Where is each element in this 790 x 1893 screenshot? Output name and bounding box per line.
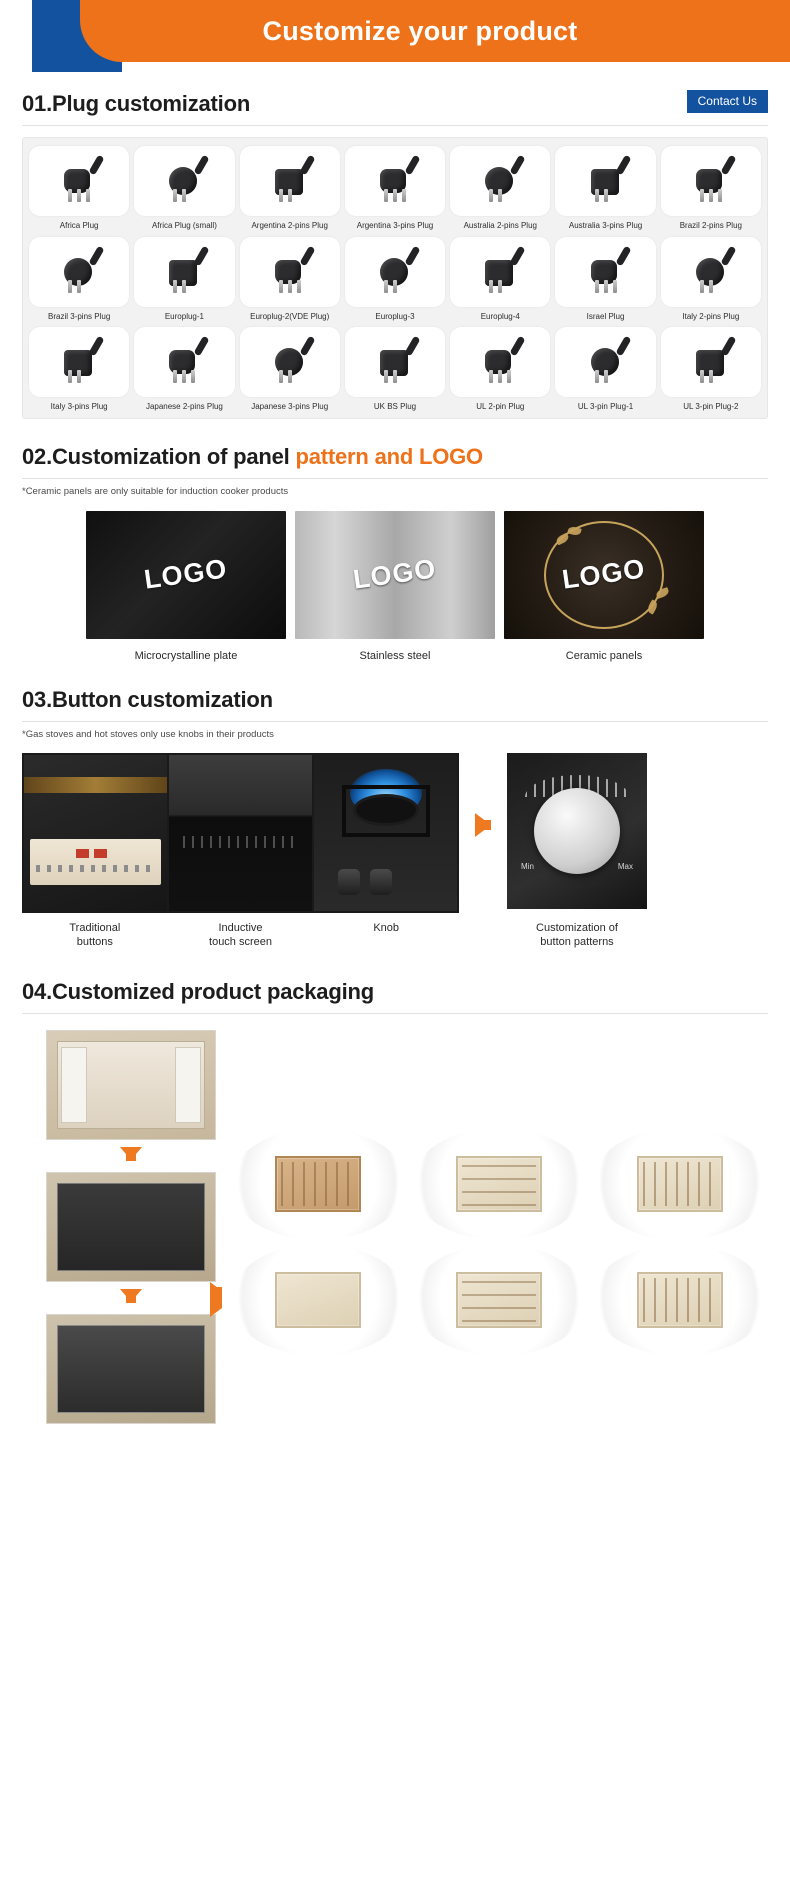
control-line-decor (36, 865, 155, 872)
panel-title-plain: 02.Customization of panel (22, 444, 296, 469)
plug-cord (615, 336, 631, 357)
button-section-note: *Gas stoves and hot stoves only use knob… (22, 729, 768, 740)
plug-label: Europlug-3 (345, 312, 445, 322)
plug-cord (299, 336, 315, 357)
plug-pin (507, 370, 511, 383)
plug-pin (86, 189, 90, 202)
plug-icon (263, 336, 317, 388)
plug-item[interactable]: Europlug-1 (134, 237, 234, 322)
panel-section-title: 02.Customization of panel pattern and LO… (22, 445, 483, 469)
plug-icon (368, 155, 422, 207)
plug-pin (700, 280, 704, 293)
logo-text: LOGO (142, 554, 229, 596)
plug-pin (279, 189, 283, 202)
plug-icon (368, 246, 422, 298)
plug-label: Brazil 3-pins Plug (29, 312, 129, 322)
plug-pin (384, 280, 388, 293)
caption-traditional-buttons: Traditional buttons (22, 922, 168, 950)
plug-label: Italy 2-pins Plug (661, 312, 761, 322)
arrow-stem (126, 1291, 136, 1303)
plug-icon (157, 155, 211, 207)
panel-sample-microcrystalline[interactable]: LOGO Microcrystalline plate (86, 511, 286, 662)
plug-cord (615, 155, 631, 176)
arrow-triangle (120, 1289, 142, 1302)
packaging-section-title: 04.Customized product packaging (22, 980, 374, 1004)
plug-pin (498, 370, 502, 383)
plug-image (450, 146, 550, 216)
plug-icon (263, 246, 317, 298)
plug-item[interactable]: Japanese 2-pins Plug (134, 327, 234, 412)
plug-label: Argentina 2-pins Plug (240, 221, 340, 231)
plug-pin (77, 280, 81, 293)
plug-cord (299, 245, 315, 266)
plug-pin (182, 280, 186, 293)
plug-label: Africa Plug (29, 221, 129, 231)
plug-image (134, 146, 234, 216)
knob-min-label: Min (521, 862, 534, 871)
plug-pin (595, 189, 599, 202)
plug-cord (510, 155, 526, 176)
crate-item[interactable] (230, 1128, 407, 1240)
plug-image (240, 237, 340, 307)
control-panel-decor (30, 839, 161, 885)
plug-icon (157, 246, 211, 298)
plug-image (240, 146, 340, 216)
plug-label: UL 3-pin Plug-1 (555, 402, 655, 412)
plug-cord (194, 155, 210, 176)
plug-image (29, 237, 129, 307)
crate-item[interactable] (591, 1244, 768, 1356)
wooden-crate (275, 1272, 361, 1328)
plug-item[interactable]: Europlug-4 (450, 237, 550, 322)
plug-item[interactable]: Israel Plug (555, 237, 655, 322)
plug-cord (510, 245, 526, 266)
plug-image (240, 327, 340, 397)
plug-label: Brazil 2-pins Plug (661, 221, 761, 231)
plug-cord (89, 155, 105, 176)
plug-pin (279, 370, 283, 383)
plug-icon (684, 246, 738, 298)
plug-image (555, 146, 655, 216)
plug-image (555, 237, 655, 307)
plug-image (661, 327, 761, 397)
plug-image (555, 327, 655, 397)
plug-image (29, 146, 129, 216)
plug-label: Argentina 3-pins Plug (345, 221, 445, 231)
contact-us-button[interactable]: Contact Us (687, 90, 768, 113)
button-pattern-group: Min Max (507, 753, 647, 909)
plug-pin (595, 370, 599, 383)
plug-pin (77, 189, 81, 202)
plug-cord (404, 155, 420, 176)
plug-cord (89, 245, 105, 266)
panel-sample-row: LOGO Microcrystalline plate LOGO Stainle… (22, 511, 768, 662)
plug-grid: Africa PlugAfrica Plug (small)Argentina … (22, 137, 768, 419)
plug-cord (510, 336, 526, 357)
plug-icon (579, 246, 633, 298)
arrow-triangle (210, 1282, 222, 1317)
plug-label: Italy 3-pins Plug (29, 402, 129, 412)
plug-cord (299, 155, 315, 176)
arrow-triangle (475, 813, 491, 837)
plug-item[interactable]: Africa Plug (small) (134, 146, 234, 231)
plug-image (345, 327, 445, 397)
packaging-step-product-inserted[interactable] (46, 1172, 216, 1282)
plug-pin (77, 370, 81, 383)
plug-pin (595, 280, 599, 293)
caption-inductive-touch-screen: Inductive touch screen (168, 922, 314, 950)
plug-label: Japanese 3-pins Plug (240, 402, 340, 412)
plug-item[interactable]: Italy 3-pins Plug (29, 327, 129, 412)
button-types-group (22, 753, 459, 913)
touch-strip-decor (183, 836, 297, 848)
knob-max-label: Max (618, 862, 633, 871)
plug-pin (191, 370, 195, 383)
panel-caption: Ceramic panels (504, 650, 704, 662)
plug-pin (173, 370, 177, 383)
stove-knob-decor (370, 869, 392, 895)
plug-item[interactable]: UL 3-pin Plug-1 (555, 327, 655, 412)
packaging-step-sealed[interactable] (46, 1314, 216, 1424)
wooden-crate (275, 1156, 361, 1212)
plug-label: Africa Plug (small) (134, 221, 234, 231)
plug-cord (194, 245, 210, 266)
knob-pattern-image[interactable]: Min Max (507, 753, 647, 909)
plug-pin (604, 189, 608, 202)
panel-caption: Stainless steel (295, 650, 495, 662)
button-section-title: 03.Button customization (22, 688, 273, 712)
caption-knob: Knob (313, 922, 459, 950)
plug-icon (52, 155, 106, 207)
plug-item[interactable]: Australia 3-pins Plug (555, 146, 655, 231)
section-packaging: 04.Customized product packaging (0, 980, 790, 1424)
wooden-crate (456, 1156, 542, 1212)
product-customization-page: Customize your product 01.Plug customiza… (0, 0, 790, 1454)
panel-sample-stainless-steel[interactable]: LOGO Stainless steel (295, 511, 495, 662)
ceramic-panel-image: LOGO (504, 511, 704, 639)
sealed-carton (57, 1325, 205, 1413)
plug-pin (498, 280, 502, 293)
button-sample-row: Min Max (22, 753, 768, 913)
section-panel-customization: 02.Customization of panel pattern and LO… (0, 445, 790, 662)
arrow-stem (212, 1287, 222, 1295)
plug-label: UK BS Plug (345, 402, 445, 412)
plug-pin (613, 280, 617, 293)
plug-pin (279, 280, 283, 293)
plug-label: Europlug-4 (450, 312, 550, 322)
plug-pin (182, 189, 186, 202)
plug-icon (52, 336, 106, 388)
panel-title-accent: pattern and LOGO (296, 444, 483, 469)
plug-image (134, 237, 234, 307)
panel-section-note: *Ceramic panels are only suitable for in… (22, 486, 768, 497)
plug-image (661, 146, 761, 216)
plug-icon (473, 246, 527, 298)
plug-label: UL 3-pin Plug-2 (661, 402, 761, 412)
plug-cord (404, 245, 420, 266)
arrow-right-icon (459, 753, 507, 837)
foam-insert (61, 1047, 87, 1123)
packaging-steps-column (46, 1030, 216, 1424)
plug-pin (489, 370, 493, 383)
plug-pin (182, 370, 186, 383)
plug-item[interactable]: Argentina 3-pins Plug (345, 146, 445, 231)
plug-item[interactable]: Argentina 2-pins Plug (240, 146, 340, 231)
plug-icon (263, 155, 317, 207)
plug-item[interactable]: Italy 2-pins Plug (661, 237, 761, 322)
plug-pin (393, 370, 397, 383)
microcrystalline-plate-image: LOGO (86, 511, 286, 639)
control-button-decor (76, 849, 89, 858)
logo-text: LOGO (351, 554, 438, 596)
plug-image (661, 237, 761, 307)
knob-image[interactable] (314, 755, 457, 911)
plug-cord (89, 336, 105, 357)
panel-section-header: 02.Customization of panel pattern and LO… (22, 445, 768, 479)
plug-pin (709, 370, 713, 383)
panel-caption: Microcrystalline plate (86, 650, 286, 662)
product-in-carton (57, 1183, 205, 1271)
wooden-crate (456, 1272, 542, 1328)
plug-image (450, 327, 550, 397)
plug-cord (720, 245, 736, 266)
plug-cord (720, 155, 736, 176)
plug-image (450, 237, 550, 307)
plug-cord (404, 336, 420, 357)
plug-image (29, 327, 129, 397)
plug-image (345, 146, 445, 216)
knob-dial (534, 788, 620, 874)
button-section-header: 03.Button customization (22, 688, 768, 722)
packaging-content-row (22, 1030, 768, 1424)
plug-pin (700, 370, 704, 383)
plug-icon (684, 155, 738, 207)
control-button-decor (94, 849, 107, 858)
plug-icon (473, 155, 527, 207)
plug-pin (384, 370, 388, 383)
plug-pin (288, 189, 292, 202)
header-banner: Customize your product (0, 0, 790, 72)
plug-pin (68, 370, 72, 383)
plug-item[interactable]: Japanese 3-pins Plug (240, 327, 340, 412)
plug-label: Europlug-2(VDE Plug) (240, 312, 340, 322)
plug-image (345, 237, 445, 307)
plug-image (134, 327, 234, 397)
plug-pin (173, 280, 177, 293)
plug-item[interactable]: Europlug-2(VDE Plug) (240, 237, 340, 322)
plug-icon (157, 336, 211, 388)
plug-pin (393, 189, 397, 202)
plug-pin (718, 189, 722, 202)
plug-icon (579, 336, 633, 388)
plug-label: Israel Plug (555, 312, 655, 322)
plug-pin (384, 189, 388, 202)
plug-icon (52, 246, 106, 298)
section-plug-customization: 01.Plug customization Contact Us Africa … (0, 90, 790, 419)
banner-orange-panel: Customize your product (80, 0, 790, 62)
plug-icon (473, 336, 527, 388)
crate-gallery (230, 1030, 768, 1424)
button-captions-row: Traditional buttons Inductive touch scre… (22, 922, 459, 950)
banner-title: Customize your product (263, 16, 608, 47)
plug-cord (194, 336, 210, 357)
arrow-stem (477, 820, 491, 830)
traditional-buttons-image[interactable] (24, 755, 167, 911)
plug-section-header: 01.Plug customization Contact Us (22, 90, 768, 126)
plug-section-title: 01.Plug customization (22, 92, 250, 116)
plug-item[interactable]: Australia 2-pins Plug (450, 146, 550, 231)
plug-pin (498, 189, 502, 202)
decor-band (24, 777, 167, 793)
arrow-down-icon (46, 1289, 216, 1307)
plug-item[interactable]: UK BS Plug (345, 327, 445, 412)
packaging-step-empty-carton[interactable] (46, 1030, 216, 1140)
packaging-section-header: 04.Customized product packaging (22, 980, 768, 1014)
plug-pin (297, 280, 301, 293)
plug-pin (489, 189, 493, 202)
burner-decor (356, 797, 416, 823)
plug-item[interactable]: Brazil 2-pins Plug (661, 146, 761, 231)
plug-pin (173, 189, 177, 202)
plug-pin (604, 280, 608, 293)
arrow-triangle (120, 1147, 142, 1160)
plug-item[interactable]: Africa Plug (29, 146, 129, 231)
plug-item[interactable]: UL 2-pin Plug (450, 327, 550, 412)
arrow-stem (126, 1149, 136, 1161)
plug-item[interactable]: Europlug-3 (345, 237, 445, 322)
plug-label: UL 2-pin Plug (450, 402, 550, 412)
plug-cord (720, 336, 736, 357)
section-button-customization: 03.Button customization *Gas stoves and … (0, 688, 790, 950)
plug-item[interactable]: Brazil 3-pins Plug (29, 237, 129, 322)
plug-pin (288, 280, 292, 293)
crate-item[interactable] (591, 1128, 768, 1240)
plug-pin (288, 370, 292, 383)
plug-pin (700, 189, 704, 202)
plug-pin (489, 280, 493, 293)
plug-pin (68, 189, 72, 202)
plug-item[interactable]: UL 3-pin Plug-2 (661, 327, 761, 412)
plug-label: Australia 2-pins Plug (450, 221, 550, 231)
stainless-steel-image: LOGO (295, 511, 495, 639)
crate-item[interactable] (411, 1244, 588, 1356)
caption-button-patterns: Customization of button patterns (507, 922, 647, 950)
plug-cord (615, 245, 631, 266)
plug-icon (579, 155, 633, 207)
inductive-touch-screen-image[interactable] (169, 755, 312, 911)
crate-item[interactable] (411, 1128, 588, 1240)
foam-insert (175, 1047, 201, 1123)
plug-icon (684, 336, 738, 388)
plug-pin (402, 189, 406, 202)
wooden-crate (637, 1156, 723, 1212)
plug-pin (393, 280, 397, 293)
stove-knob-decor (338, 869, 360, 895)
crate-item[interactable] (230, 1244, 407, 1356)
plug-label: Europlug-1 (134, 312, 234, 322)
panel-sample-ceramic[interactable]: LOGO Ceramic panels (504, 511, 704, 662)
plug-icon (368, 336, 422, 388)
arrow-down-icon (46, 1147, 216, 1165)
wooden-crate (637, 1272, 723, 1328)
arrow-right-icon (210, 1291, 222, 1309)
plug-pin (709, 189, 713, 202)
plug-label: Australia 3-pins Plug (555, 221, 655, 231)
plug-pin (604, 370, 608, 383)
plug-label: Japanese 2-pins Plug (134, 402, 234, 412)
plug-pin (68, 280, 72, 293)
plug-pin (709, 280, 713, 293)
